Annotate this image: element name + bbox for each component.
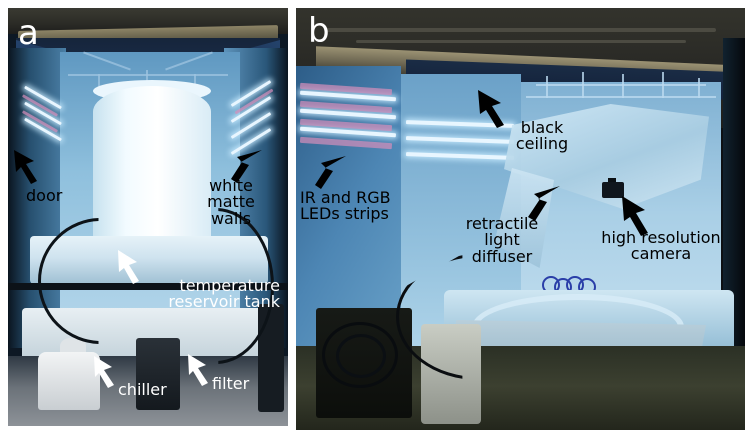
ceiling-pipe [326,28,716,32]
panel-b-photograph: b IR and RGB LEDs strips black ceiling r… [296,8,745,430]
label-temperature-reservoir-tank: temperature reservoir tank [128,278,280,311]
label-chiller: chiller [118,382,167,398]
ir-and-rgb-leds-strips-arrow-icon [310,154,348,192]
label-high-resolution-camera: high resolution camera [586,230,736,263]
label-ir-and-rgb-leds-strips: IR and RGB LEDs strips [300,190,391,223]
panel-letter-b: b [308,14,330,48]
filter-unit [136,338,180,410]
label-retractile-light-diffuser: retractile light diffuser [448,216,556,265]
door-arrow-icon [12,148,46,184]
label-black-ceiling: black ceiling [502,120,582,153]
panel-letter-a: a [18,16,39,50]
label-white-matte-walls: white matte walls [184,178,278,227]
label-filter: filter [212,376,249,392]
chiller-unit [38,352,100,410]
overhead-camera-rig [526,70,721,110]
ceiling-pipe [356,40,686,43]
panel-a-photograph: a door white matte walls temperature res… [8,8,288,426]
label-door: door [26,188,62,204]
figure-canvas: a door white matte walls temperature res… [0,0,753,436]
cable-coil [336,334,386,378]
